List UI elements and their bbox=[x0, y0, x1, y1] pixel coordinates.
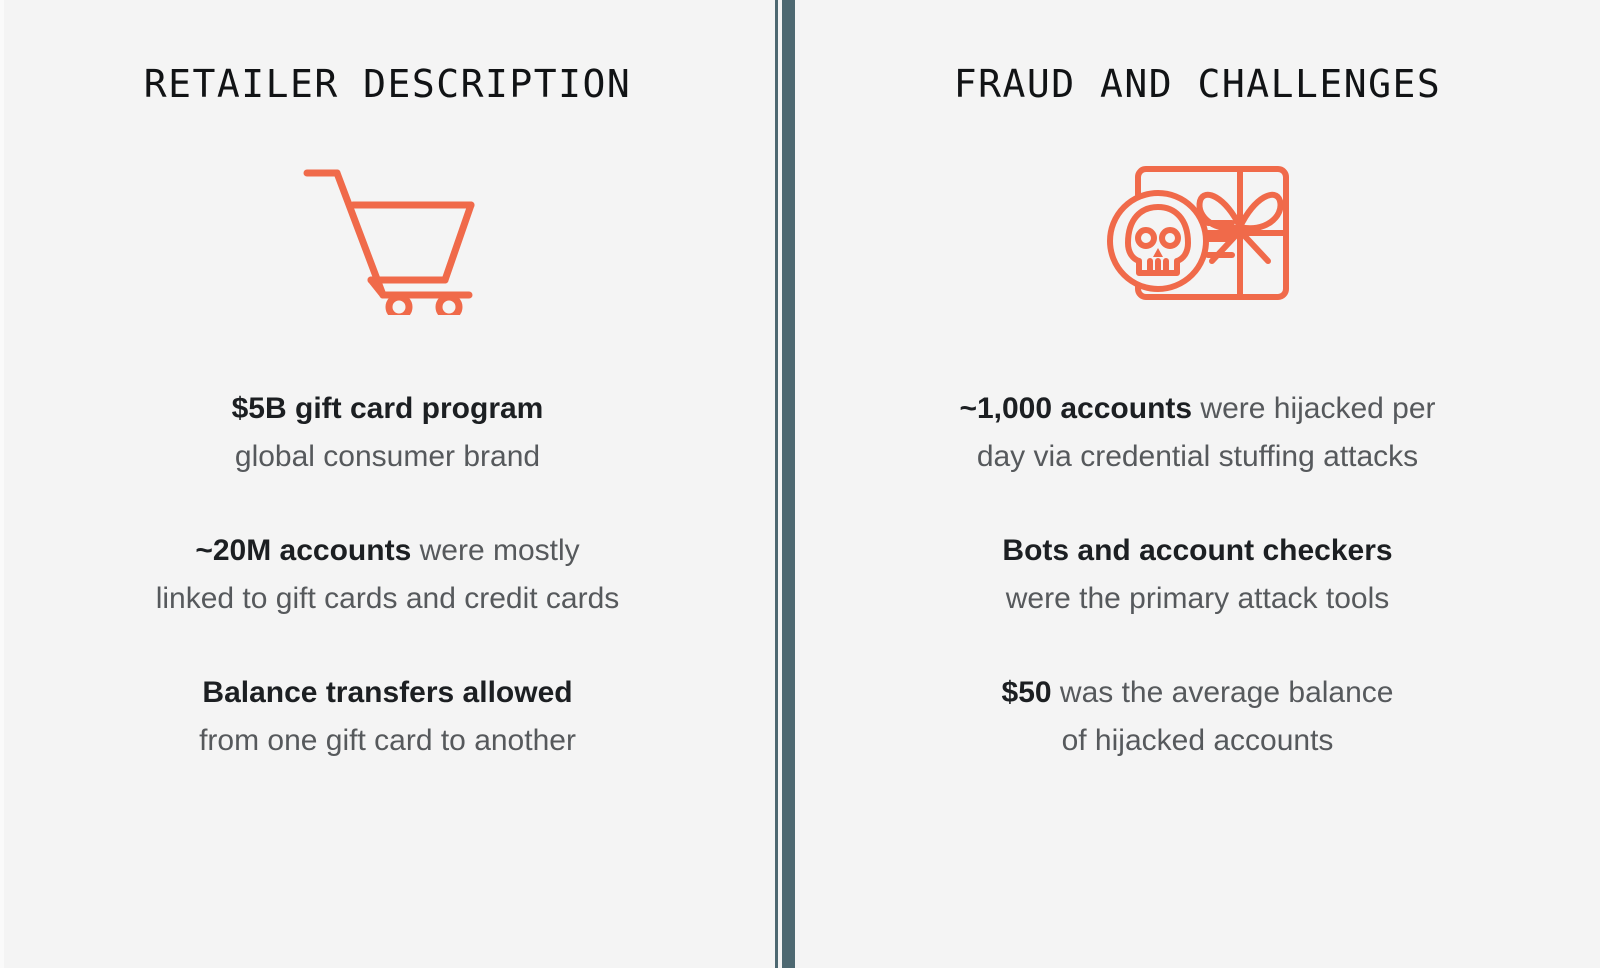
column-divider bbox=[775, 0, 795, 968]
fact-item: $5B gift card program global consumer br… bbox=[232, 385, 544, 481]
cart-wheels bbox=[389, 297, 459, 315]
fact-lead: $5B gift card program bbox=[232, 392, 544, 425]
fact-lead: ~1,000 accounts bbox=[959, 392, 1192, 425]
column-fraud-and-challenges: FRAUD AND CHALLENGES bbox=[795, 0, 1600, 968]
fact-trail: was the average balance bbox=[1052, 676, 1394, 709]
two-column-infographic: RETAILER DESCRIPTION bbox=[0, 0, 1600, 968]
fact-item: Balance transfers allowed from one gift … bbox=[199, 669, 576, 765]
shopping-cart-icon bbox=[293, 155, 483, 315]
fact-line: day via credential stuffing attacks bbox=[959, 433, 1435, 481]
facts-list-fraud: ~1,000 accounts were hijacked per day vi… bbox=[795, 385, 1600, 765]
fact-lead: Bots and account checkers bbox=[1002, 534, 1392, 567]
fact-item: ~20M accounts were mostly linked to gift… bbox=[156, 527, 620, 623]
gift-card-skull-icon-wrap bbox=[1100, 148, 1295, 323]
fact-trail: were hijacked per bbox=[1192, 392, 1435, 425]
fact-line: were the primary attack tools bbox=[1002, 575, 1392, 623]
fact-line: of hijacked accounts bbox=[1002, 717, 1394, 765]
facts-list-retailer: $5B gift card program global consumer br… bbox=[0, 385, 775, 765]
divider-band bbox=[782, 0, 795, 968]
fact-line: global consumer brand bbox=[232, 433, 544, 481]
fact-lead: Balance transfers allowed bbox=[202, 676, 572, 709]
gift-card-skull-icon bbox=[1100, 155, 1295, 315]
gift-bow-right-loop bbox=[1240, 195, 1281, 229]
page-title-retailer-description: RETAILER DESCRIPTION bbox=[144, 64, 632, 106]
fact-lead: $50 bbox=[1002, 676, 1052, 709]
fact-item: $50 was the average balance of hijacked … bbox=[1002, 669, 1394, 765]
shopping-cart-icon-wrap bbox=[293, 148, 483, 323]
fact-lead: ~20M accounts bbox=[195, 534, 411, 567]
column-retailer-description: RETAILER DESCRIPTION bbox=[0, 0, 775, 968]
fact-line: linked to gift cards and credit cards bbox=[156, 575, 620, 623]
fact-trail: were mostly bbox=[411, 534, 579, 567]
fact-item: ~1,000 accounts were hijacked per day vi… bbox=[959, 385, 1435, 481]
fact-line: from one gift card to another bbox=[199, 717, 576, 765]
page-title-fraud-and-challenges: FRAUD AND CHALLENGES bbox=[954, 64, 1442, 106]
fact-item: Bots and account checkers were the prima… bbox=[1002, 527, 1392, 623]
